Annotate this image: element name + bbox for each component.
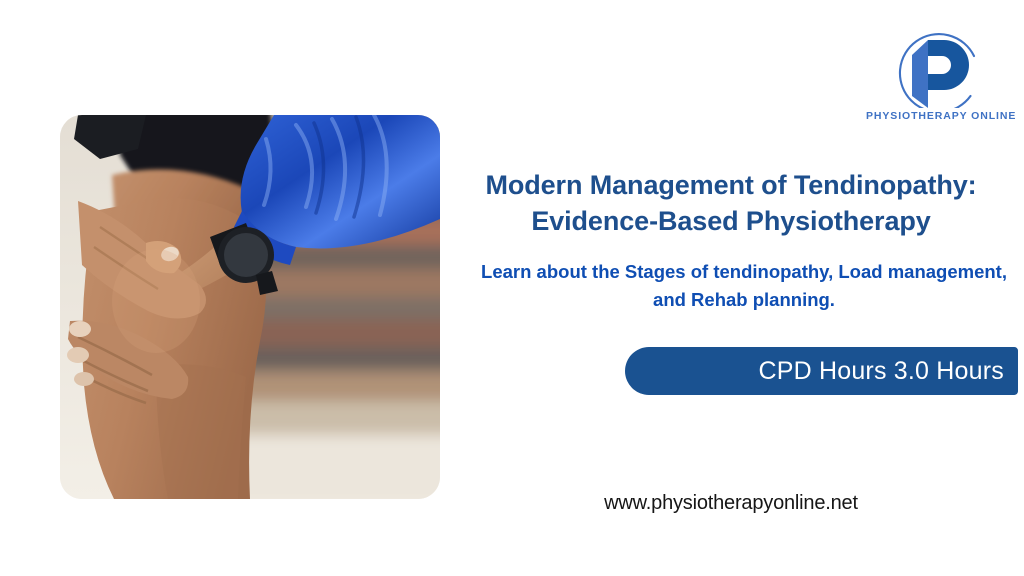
hero-photo-knee-pain xyxy=(60,115,440,499)
logo-caption: PHYSIOTHERAPY ONLINE xyxy=(866,110,996,122)
promo-banner: PHYSIOTHERAPY ONLINE xyxy=(0,0,1024,576)
website-url[interactable]: www.physiotherapyonline.net xyxy=(444,492,1018,515)
brand-logo[interactable]: PHYSIOTHERAPY ONLINE xyxy=(866,22,996,130)
page-title-line-1: Modern Management of Tendinopathy: xyxy=(444,168,1018,204)
knee-pain-illustration xyxy=(60,115,440,499)
page-subtitle: Learn about the Stages of tendinopathy, … xyxy=(470,258,1018,314)
cpd-hours-badge: CPD Hours 3.0 Hours xyxy=(625,347,1018,395)
cpd-hours-label: CPD Hours 3.0 Hours xyxy=(758,357,1004,386)
physiotherapy-online-p-monogram-icon xyxy=(866,22,996,108)
page-title: Modern Management of Tendinopathy: Evide… xyxy=(444,168,1018,240)
page-title-line-2: Evidence-Based Physiotherapy xyxy=(444,204,1018,240)
